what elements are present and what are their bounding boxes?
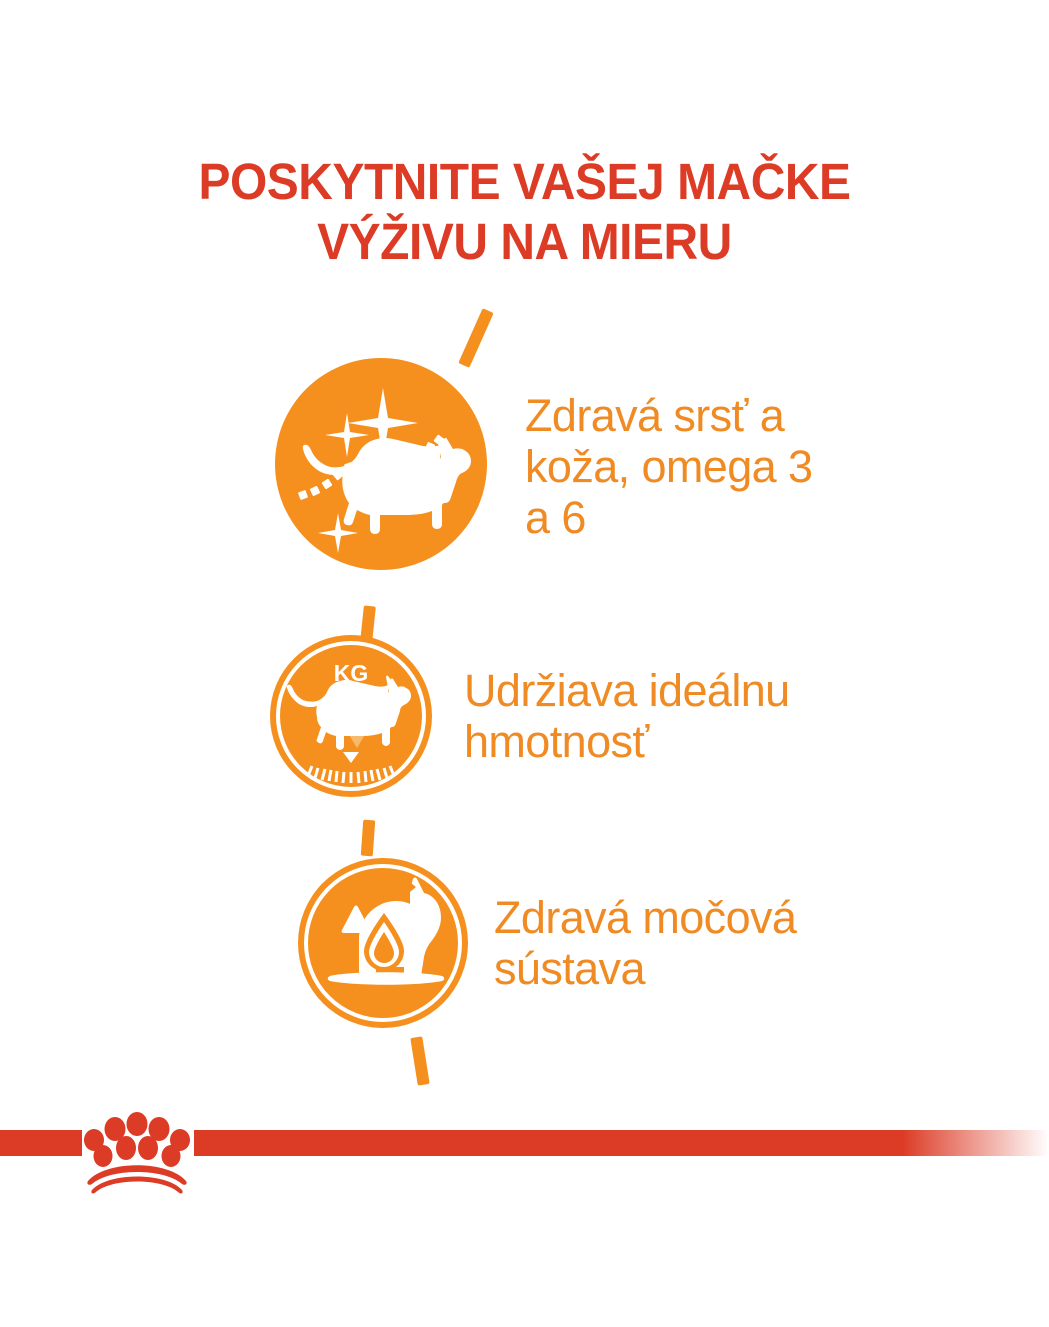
benefit-icon-wrapper	[275, 358, 487, 570]
benefits-list: Zdravá srsť a koža, omega 3 a 6 KG	[0, 330, 1049, 1060]
cat-weight-scale-kg-icon: KG	[270, 635, 432, 797]
walking-cat-sparkle-icon	[275, 358, 487, 570]
product-benefits-infographic: POSKYTNITE VAŠEJ MAČKE VÝŽIVU NA MIERU	[0, 0, 1049, 1327]
benefit-label: Udržiava ideálnu hmotnosť	[464, 665, 790, 767]
benefit-icon-wrapper: KG	[270, 635, 432, 797]
sitting-cat-water-drop-icon	[298, 858, 468, 1028]
royal-canin-crown-logo	[72, 1098, 202, 1194]
benefit-label: Zdravá srsť a koža, omega 3 a 6	[525, 390, 812, 543]
benefit-item-ideal-weight: KG	[270, 635, 790, 797]
benefit-item-healthy-coat-skin: Zdravá srsť a koža, omega 3 a 6	[275, 358, 812, 570]
benefit-icon-wrapper	[298, 858, 468, 1028]
benefit-label: Zdravá močová sústava	[494, 892, 796, 994]
benefit-item-urinary-health: Zdravá močová sústava	[298, 858, 796, 1028]
footer	[0, 1108, 1049, 1204]
page-title: POSKYTNITE VAŠEJ MAČKE VÝŽIVU NA MIERU	[31, 152, 1017, 272]
